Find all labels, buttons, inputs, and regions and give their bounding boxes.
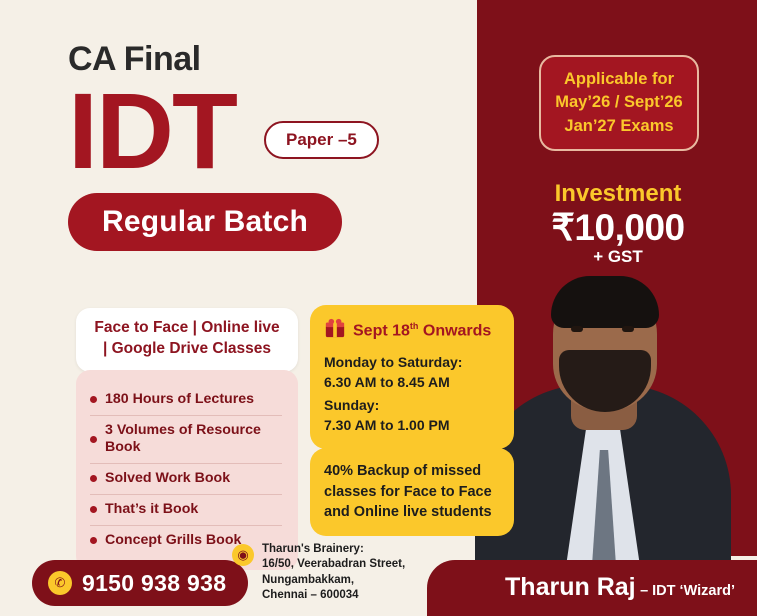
bullet-dot-icon xyxy=(90,475,97,482)
address-line-4: Chennai – 600034 xyxy=(262,588,405,604)
sunday-schedule-time: 7.30 AM to 1.00 PM xyxy=(324,415,500,435)
investment-amount: ₹10,000 xyxy=(523,208,713,249)
feature-label: That’s it Book xyxy=(105,501,198,518)
address-line-1: Tharun's Brainery: xyxy=(262,542,405,558)
bullet-dot-icon xyxy=(90,436,97,443)
hair-shape xyxy=(551,276,659,328)
address-line-2: 16/50, Veerabadran Street, xyxy=(262,557,405,573)
start-date-text: Sept 18th Onwards xyxy=(353,321,491,340)
investment-label: Investment xyxy=(523,180,713,208)
bullet-dot-icon xyxy=(90,396,97,403)
sunday-schedule-label: Sunday: xyxy=(324,395,500,415)
bullet-dot-icon xyxy=(90,537,97,544)
applicable-line-2: May’26 / Sept’26 xyxy=(551,91,687,114)
footer-bar: ✆ 9150 938 938 ◉ Tharun's Brainery: 16/5… xyxy=(0,556,757,616)
left-eye-shape xyxy=(571,326,583,332)
list-item: 3 Volumes of Resource Book xyxy=(90,415,290,463)
title-block: CA Final IDT Paper –5 Regular Batch xyxy=(68,42,342,251)
class-modes-line-2: | Google Drive Classes xyxy=(88,339,286,360)
class-modes-card: Face to Face | Online live | Google Driv… xyxy=(76,308,298,372)
feature-label: 3 Volumes of Resource Book xyxy=(105,422,290,456)
address-block: ◉ Tharun's Brainery: 16/50, Veerabadran … xyxy=(232,542,405,604)
schedule-card: Sept 18th Onwards Monday to Saturday: 6.… xyxy=(310,305,514,449)
weekday-schedule-time: 6.30 AM to 8.45 AM xyxy=(324,372,500,392)
applicable-line-3: Jan’27 Exams xyxy=(551,115,687,138)
backup-policy-text: 40% Backup of missed classes for Face to… xyxy=(324,461,500,523)
paper-badge: Paper –5 xyxy=(264,121,379,159)
list-item: Solved Work Book xyxy=(90,463,290,494)
bullet-dot-icon xyxy=(90,506,97,513)
faculty-name-block: Tharun Raj – IDT ‘Wizard’ xyxy=(505,573,735,602)
feature-label: 180 Hours of Lectures xyxy=(105,391,254,408)
faculty-role: – IDT ‘Wizard’ xyxy=(640,583,735,599)
address-line-3: Nungambakkam, xyxy=(262,573,405,589)
applicable-for-badge: Applicable for May’26 / Sept’26 Jan’27 E… xyxy=(539,55,699,151)
right-eye-shape xyxy=(622,326,634,332)
phone-number: 9150 938 938 xyxy=(82,570,226,597)
batch-badge: Regular Batch xyxy=(68,193,342,251)
feature-label: Concept Grills Book xyxy=(105,532,241,549)
location-pin-icon: ◉ xyxy=(232,544,254,566)
weekday-schedule-label: Monday to Saturday: xyxy=(324,352,500,372)
phone-contact-pill[interactable]: ✆ 9150 938 938 xyxy=(32,560,248,606)
faculty-name: Tharun Raj xyxy=(505,573,636,601)
subject-row: IDT Paper –5 xyxy=(68,74,342,187)
schedule-header: Sept 18th Onwards xyxy=(324,317,500,344)
phone-icon: ✆ xyxy=(48,571,72,595)
gift-icon xyxy=(324,317,346,344)
applicable-line-1: Applicable for xyxy=(551,68,687,91)
poster-canvas: Applicable for May’26 / Sept’26 Jan’27 E… xyxy=(0,0,757,616)
backup-policy-card: 40% Backup of missed classes for Face to… xyxy=(310,448,514,536)
list-item: That’s it Book xyxy=(90,494,290,525)
subject-title: IDT xyxy=(68,74,236,187)
class-modes-line-1: Face to Face | Online live xyxy=(88,318,286,339)
feature-label: Solved Work Book xyxy=(105,470,230,487)
address-text: Tharun's Brainery: 16/50, Veerabadran St… xyxy=(262,542,405,604)
features-list: 180 Hours of Lectures 3 Volumes of Resou… xyxy=(76,370,298,570)
list-item: 180 Hours of Lectures xyxy=(90,384,290,415)
